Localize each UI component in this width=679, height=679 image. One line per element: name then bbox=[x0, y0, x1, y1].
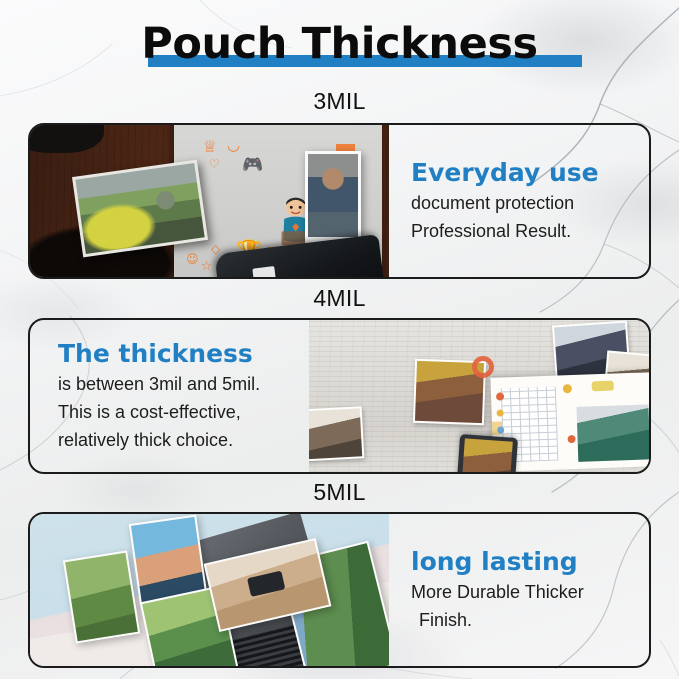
gold-tag-icon bbox=[592, 380, 614, 391]
panel-5mil: long lasting More Durable Thicker Finish… bbox=[28, 512, 651, 668]
confetti-dot bbox=[568, 435, 576, 443]
wall-photo-group-left bbox=[309, 406, 365, 461]
diamond-doodle-icon: ◇ bbox=[211, 242, 220, 256]
panel-5mil-image bbox=[30, 514, 389, 666]
game-controller-doodle-icon: 🎮 bbox=[242, 155, 263, 175]
calendar-group-photo bbox=[577, 404, 649, 461]
panel-3mil-body-line-2: Professional Result. bbox=[411, 217, 635, 245]
section-label-5mil: 5MIL bbox=[0, 479, 679, 506]
photo-couple-grass bbox=[63, 550, 140, 643]
section-label-4mil: 4MIL bbox=[0, 285, 679, 312]
phone-screen-photo bbox=[461, 438, 513, 472]
usb-stick-icon bbox=[252, 265, 276, 277]
section-label-3mil: 3MIL bbox=[0, 88, 679, 115]
panel-5mil-body-line-1: More Durable Thicker bbox=[411, 578, 635, 606]
laminated-photo-child-gardening bbox=[72, 159, 208, 256]
hand-holding-phone bbox=[456, 434, 518, 472]
page-title-block: Pouch Thickness bbox=[0, 16, 679, 78]
panel-5mil-text: long lasting More Durable Thicker Finish… bbox=[389, 514, 649, 666]
panel-3mil-headline: Everyday use bbox=[411, 157, 635, 189]
spiral-doodle-icon: ◡ bbox=[228, 136, 240, 154]
panel-4mil-body-line-2: This is a cost-effective, bbox=[58, 398, 295, 426]
panel-4mil-text: The thickness is between 3mil and 5mil. … bbox=[30, 320, 309, 472]
confetti-dot bbox=[563, 384, 572, 393]
panel-4mil-body-line-3: relatively thick choice. bbox=[58, 426, 295, 454]
page-title: Pouch Thickness bbox=[0, 16, 679, 72]
panel-3mil-text: Everyday use document protection Profess… bbox=[389, 125, 649, 277]
panel-4mil: The thickness is between 3mil and 5mil. … bbox=[28, 318, 651, 474]
panel-5mil-body-line-2: Finish. bbox=[411, 606, 635, 634]
panel-3mil-image: ♕ ◡ ♡ 🎮 🏆 ◇ ☺ ☆ ‖ bbox=[30, 125, 389, 277]
polaroid-photo-man-gaming bbox=[305, 151, 361, 246]
panel-4mil-headline: The thickness bbox=[58, 338, 295, 370]
panel-3mil: ♕ ◡ ♡ 🎮 🏆 ◇ ☺ ☆ ‖ bbox=[28, 123, 651, 279]
phone-in-photo-icon bbox=[247, 571, 285, 598]
panel-4mil-image bbox=[309, 320, 649, 472]
smiley-doodle-icon: ☺ bbox=[186, 252, 199, 266]
panel-5mil-headline: long lasting bbox=[411, 546, 635, 578]
panel-4mil-body-line-1: is between 3mil and 5mil. bbox=[58, 370, 295, 398]
star-doodle-icon: ☆ bbox=[201, 259, 213, 274]
crown-doodle-icon: ♕ bbox=[203, 137, 217, 156]
heart-doodle-icon: ♡ bbox=[209, 157, 220, 171]
panel-3mil-body-line-1: document protection bbox=[411, 189, 635, 217]
